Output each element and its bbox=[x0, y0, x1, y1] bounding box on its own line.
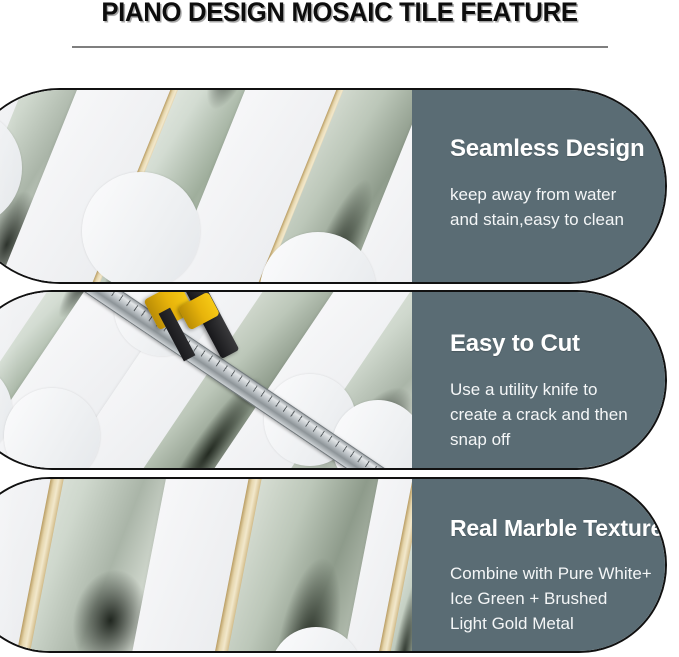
text-side-real-marble-texture: Real Marble Texture Combine with Pure Wh… bbox=[412, 479, 665, 651]
panel-body-text: keep away from water and stain,easy to c… bbox=[450, 182, 624, 232]
panel-heading: Easy to Cut bbox=[450, 330, 580, 358]
title-divider bbox=[72, 46, 608, 48]
panel-body-text: Use a utility knife to create a crack an… bbox=[450, 377, 628, 452]
panel-heading: Real Marble Texture bbox=[450, 515, 663, 542]
text-side-easy-to-cut: Easy to Cut Use a utility knife to creat… bbox=[412, 292, 665, 468]
feature-panel-real-marble-texture: Real Marble Texture Combine with Pure Wh… bbox=[0, 477, 667, 653]
photo-seamless-design bbox=[0, 90, 412, 282]
feature-panel-easy-to-cut: Easy to Cut Use a utility knife to creat… bbox=[0, 290, 667, 470]
header: PIANO DESIGN MOSAIC TILE FEATURE bbox=[0, 0, 679, 88]
panel-body-text: Combine with Pure White+ Ice Green + Bru… bbox=[450, 561, 652, 636]
page-title: PIANO DESIGN MOSAIC TILE FEATURE bbox=[17, 0, 662, 28]
photo-real-marble-texture bbox=[0, 479, 412, 651]
panel-heading: Seamless Design bbox=[450, 135, 644, 163]
tile-arc-cutout bbox=[82, 172, 200, 282]
text-side-seamless-design: Seamless Design keep away from water and… bbox=[412, 90, 665, 282]
photo-easy-to-cut bbox=[0, 292, 412, 468]
feature-panel-seamless-design: Seamless Design keep away from water and… bbox=[0, 88, 667, 284]
